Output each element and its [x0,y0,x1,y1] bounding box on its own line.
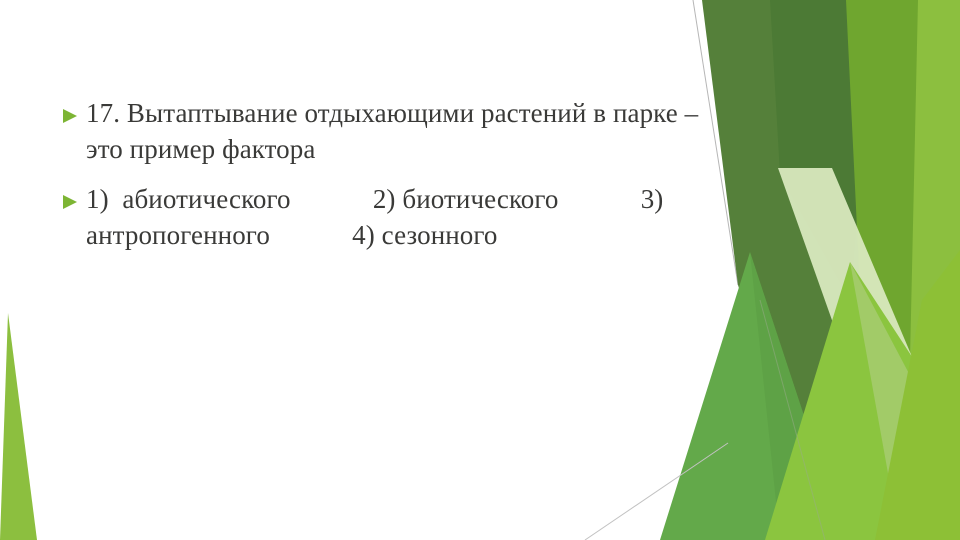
polygon-leaf-green-peak [660,252,845,540]
polygon-pale-diagonal-band [778,168,960,540]
polygon-pale-wedge [720,170,835,540]
decorative-hairline-overlay [0,0,960,540]
polygon-lime-overlay [850,262,960,540]
decorative-green-sliver-left [0,0,120,540]
polygon-mid-green-band [846,0,960,540]
question-text: 17. Вытаптывание отдыхающими растений в … [86,96,702,168]
triangle-right-bullet-icon [62,182,86,210]
polygon-left-sliver [0,313,37,540]
polygon-yellow-green-wedge [875,250,960,540]
polygon-dark-green-slab [702,0,960,540]
polygon-bright-green-column [906,0,960,540]
hairline-diagonal-lower [760,300,825,540]
bullet-item-question: 17. Вытаптывание отдыхающими растений в … [62,96,702,168]
answer-options-text: 1) абиотического 2) биотического 3) антр… [86,182,702,254]
body-text-placeholder: 17. Вытаптывание отдыхающими растений в … [62,96,702,254]
hairline-long-diagonal [585,443,728,540]
polygon-leaf-green-shade [750,252,845,540]
bullet-item-answers: 1) абиотического 2) биотического 3) антр… [62,182,702,254]
polygon-forest-accent [770,0,875,300]
triangle-right-bullet-icon [62,96,86,124]
polygon-lime-green-peak [765,262,960,540]
slide-canvas: 17. Вытаптывание отдыхающими растений в … [0,0,960,540]
decorative-green-polygons-right [660,0,960,540]
